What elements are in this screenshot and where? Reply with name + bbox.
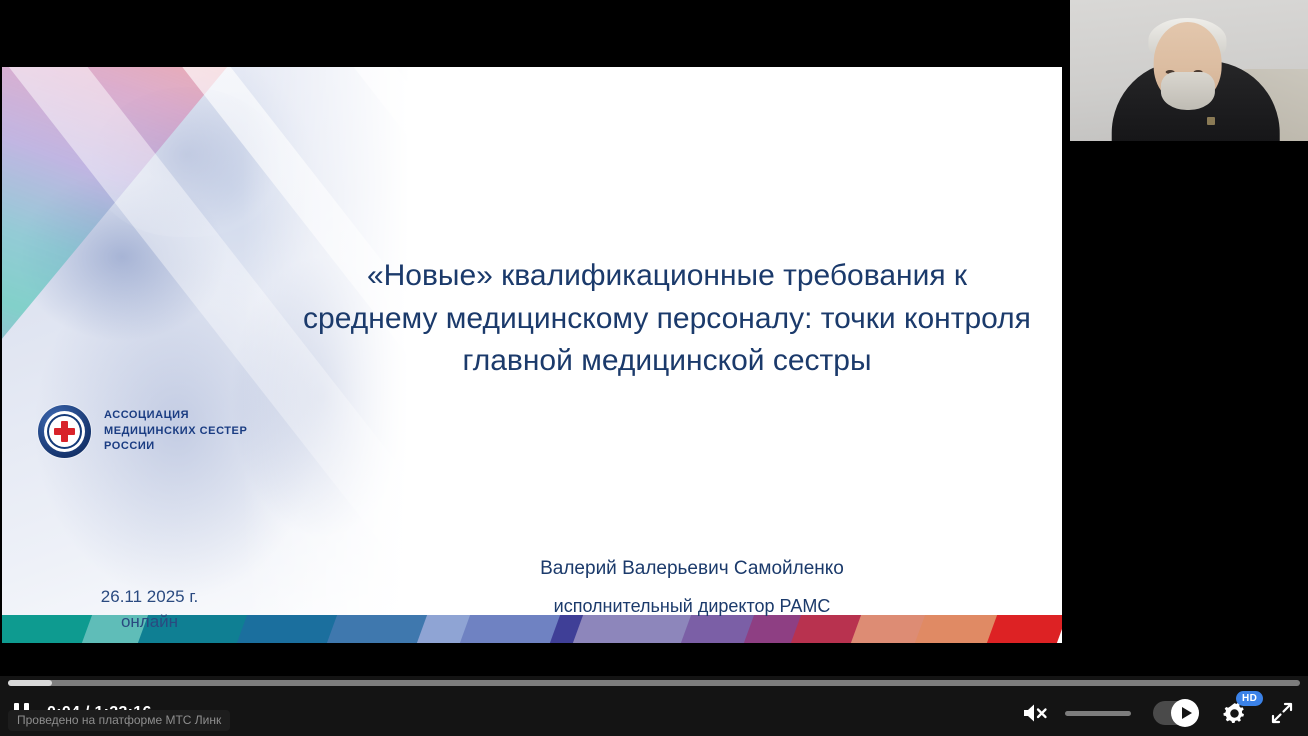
association-logo: АССОЦИАЦИЯ МЕДИЦИНСКИХ СЕСТЕР РОССИИ (38, 405, 247, 458)
progress-track[interactable] (8, 680, 1300, 686)
colorbar-segment-14 (987, 615, 1062, 643)
emblem-icon (38, 405, 91, 458)
volume-muted-icon[interactable] (1021, 701, 1051, 725)
video-stage[interactable]: АССОЦИАЦИЯ МЕДИЦИНСКИХ СЕСТЕР РОССИИ «Но… (0, 0, 1308, 676)
platform-watermark: Проведено на платформе МТС Линк (8, 710, 230, 731)
progress-filled (8, 680, 52, 686)
logo-line-1: АССОЦИАЦИЯ (104, 408, 247, 424)
logo-text: АССОЦИАЦИЯ МЕДИЦИНСКИХ СЕСТЕР РОССИИ (104, 408, 247, 456)
video-player: АССОЦИАЦИЯ МЕДИЦИНСКИХ СЕСТЕР РОССИИ «Но… (0, 0, 1308, 736)
seek-bar[interactable] (0, 676, 1308, 690)
slide-location: онлайн (62, 610, 237, 635)
shirt-badge (1207, 117, 1215, 125)
speaker-beard (1161, 72, 1215, 110)
slide-speaker: Валерий Валерьевич Самойленко исполнител… (382, 559, 1002, 615)
logo-line-3: РОССИИ (104, 439, 247, 455)
autoplay-toggle[interactable] (1153, 701, 1199, 725)
colorbar-segment-8 (573, 615, 697, 643)
volume-control (1021, 701, 1131, 725)
slide-title: «Новые» квалификационные требования к ср… (302, 255, 1032, 383)
slide-date: 26.11 2025 г. (62, 585, 237, 610)
hd-quality-badge: HD (1236, 691, 1263, 706)
settings-button[interactable]: HD (1221, 700, 1248, 727)
volume-slider[interactable] (1065, 711, 1131, 716)
slide-date-block: 26.11 2025 г. онлайн (62, 585, 237, 634)
speaker-name: Валерий Валерьевич Самойленко (540, 558, 844, 579)
speaker-webcam[interactable] (1068, 0, 1308, 141)
logo-line-2: МЕДИЦИНСКИХ СЕСТЕР (104, 424, 247, 440)
toggle-knob-play-icon (1171, 699, 1199, 727)
colorbar-segment-6 (460, 615, 566, 643)
fullscreen-icon[interactable] (1270, 701, 1294, 725)
speaker-role: исполнительный директор РАМС (382, 597, 1002, 615)
presentation-slide: АССОЦИАЦИЯ МЕДИЦИНСКИХ СЕСТЕР РОССИИ «Но… (2, 67, 1062, 643)
